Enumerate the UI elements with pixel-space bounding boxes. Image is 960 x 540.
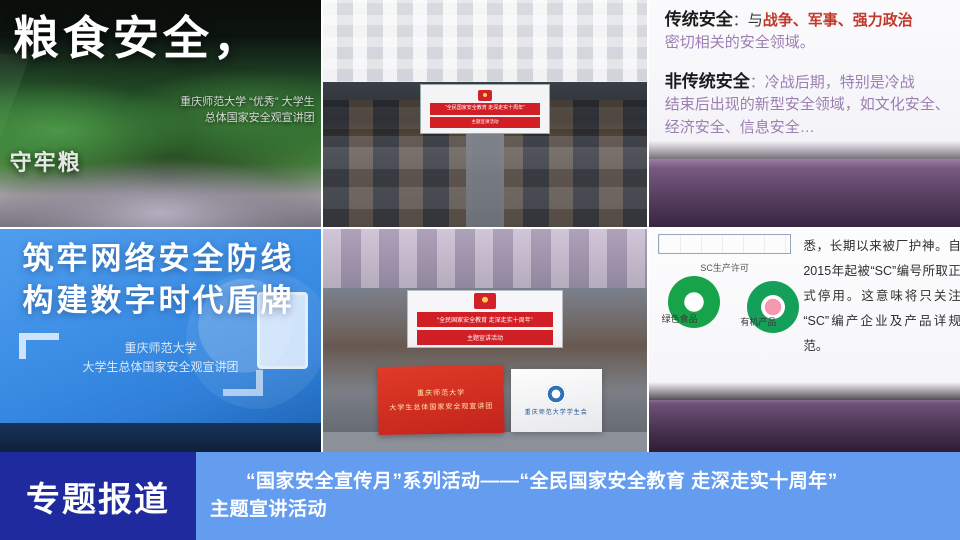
banner-title-line2: 主题宣讲活动 xyxy=(210,496,952,524)
slide-table-graphic xyxy=(658,234,790,254)
slide-title-line2: 构建数字时代盾牌 xyxy=(22,280,298,322)
photo-group: “全民国家安全教育 走深走实十周年” 主题宣讲活动 重庆师范大学 大学生总体国家… xyxy=(323,229,647,454)
sc-permit-label: SC生产许可 xyxy=(674,261,775,274)
screen-title-line1: “全民国家安全教育 走深走实十周年” xyxy=(430,103,540,115)
panel-cyber-security-slide[interactable]: 筑牢网络安全防线 构建数字时代盾牌 重庆师范大学 大学生总体国家安全观宣讲团 xyxy=(0,229,321,454)
terrace-field-shape xyxy=(0,54,321,227)
hall-floor xyxy=(323,432,647,455)
slide-line-5: 经济安全、信息安全… xyxy=(665,117,955,140)
slide-emphasis-1: 战争、军事、强力政治 xyxy=(763,12,913,29)
green-food-caption: 绿色食品 xyxy=(662,312,698,325)
term-nontraditional-security: 非传统安全 xyxy=(665,72,750,91)
national-emblem-icon xyxy=(474,293,496,309)
screen-title-line1: “全民国家安全教育 走深走实十周年” xyxy=(417,312,552,327)
slide-sep-2: ： xyxy=(750,74,765,91)
ceiling-lights xyxy=(323,229,647,288)
stage-light-glow xyxy=(649,159,960,227)
red-banner-line2: 大学生总体国家安全观宣讲团 xyxy=(389,401,493,413)
slide-spacer xyxy=(665,55,955,69)
red-banner-line1: 重庆师范大学 xyxy=(417,388,465,399)
slide-organization: 重庆师范大学 大学生总体国家安全观宣讲团 xyxy=(71,339,251,377)
slide-subline: 守牢粮 xyxy=(10,145,82,177)
stage-desk xyxy=(0,423,321,455)
poster-root: 粮食安全， 重庆师范大学 “优秀” 大学生总体国家安全观宣讲团 守牢粮 “全民国… xyxy=(0,0,960,540)
slide-sep-1: ：与 xyxy=(733,12,763,29)
red-banner: 重庆师范大学 大学生总体国家安全观宣讲团 xyxy=(377,365,505,435)
photo-lecture-hall: “全民国家安全教育 走深走实十周年” 主题宣讲活动 xyxy=(323,0,647,227)
ceiling-lights xyxy=(323,0,647,91)
panel-food-safety-sc-slide[interactable]: SC生产许可 绿色食品 有机产品 悉，长期以来被厂护神。自2015年起被“SC”… xyxy=(649,229,960,454)
organic-product-caption: 有机产品 xyxy=(740,315,776,328)
panel-traditional-security-slide[interactable]: 传统安全：与战争、军事、强力政治 密切相关的安全领域。 非传统安全：冷战后期，特… xyxy=(649,0,960,227)
slide-line-2: 密切相关的安全领域。 xyxy=(665,32,955,55)
slide-credit: 重庆师范大学 “优秀” 大学生总体国家安全观宣讲团 xyxy=(180,95,315,127)
feature-report-badge: 专题报道 xyxy=(0,452,196,540)
photo-cyber-slide: 筑牢网络安全防线 构建数字时代盾牌 重庆师范大学 大学生总体国家安全观宣讲团 xyxy=(0,229,321,454)
slide-title-line1: 筑牢网络安全防线 xyxy=(22,238,298,280)
bottom-banner: 专题报道 “国家安全宣传月”系列活动——“全民国家安全教育 走深走实十周年” 主… xyxy=(0,452,960,540)
slide-paragraph: 悉，长期以来被厂护神。自2015年起被“SC”编号所取正式停用。这意味将只关注“… xyxy=(803,234,960,359)
panel-food-security-speaker[interactable]: 粮食安全， 重庆师范大学 “优秀” 大学生总体国家安全观宣讲团 守牢粮 xyxy=(0,0,321,227)
panel-lecture-hall[interactable]: “全民国家安全教育 走深走实十周年” 主题宣讲活动 xyxy=(323,0,647,227)
photo-security-concept-slide: 传统安全：与战争、军事、强力政治 密切相关的安全领域。 非传统安全：冷战后期，特… xyxy=(649,0,960,227)
slide-text-3: 冷战后期，特别是冷战 xyxy=(765,74,915,91)
slide-org-line2: 大学生总体国家安全观宣讲团 xyxy=(71,358,251,377)
term-traditional-security: 传统安全 xyxy=(665,10,733,29)
white-banner-line1: 重庆师范大学学生会 xyxy=(525,407,588,416)
slide-line-1: 传统安全：与战争、军事、强力政治 xyxy=(665,7,955,33)
slide-line-3: 非传统安全：冷战后期，特别是冷战 xyxy=(665,69,955,95)
panel-group-photo[interactable]: “全民国家安全教育 走深走实十周年” 主题宣讲活动 重庆师范大学 大学生总体国家… xyxy=(323,229,647,454)
photo-backdrop-rice-terrace: 粮食安全， 重庆师范大学 “优秀” 大学生总体国家安全观宣讲团 守牢粮 xyxy=(0,0,321,227)
stage-light-glow xyxy=(649,400,960,454)
projection-screen: “全民国家安全教育 走深走实十周年” 主题宣讲活动 xyxy=(420,84,550,134)
screen-title-line2: 主题宣讲活动 xyxy=(430,117,540,128)
student-union-emblem-icon xyxy=(546,384,566,404)
slide-org-line1: 重庆师范大学 xyxy=(71,339,251,358)
slide-headline: 粮食安全， xyxy=(13,2,315,68)
slide-body: 传统安全：与战争、军事、强力政治 密切相关的安全领域。 非传统安全：冷战后期，特… xyxy=(665,7,955,140)
feature-report-label: 专题报道 xyxy=(26,472,170,521)
photo-collage: 粮食安全， 重庆师范大学 “优秀” 大学生总体国家安全观宣讲团 守牢粮 “全民国… xyxy=(0,0,960,452)
photo-food-safety-slide: SC生产许可 绿色食品 有机产品 悉，长期以来被厂护神。自2015年起被“SC”… xyxy=(649,229,960,454)
slide-line-4: 结束后出现的新型安全领域，如文化安全、 xyxy=(665,94,955,117)
banner-title-block: “国家安全宣传月”系列活动——“全民国家安全教育 走深走实十周年” 主题宣讲活动 xyxy=(196,452,960,540)
slide-title: 筑牢网络安全防线 构建数字时代盾牌 xyxy=(22,238,298,322)
banner-title-line1: “国家安全宣传月”系列活动——“全民国家安全教育 走深走实十周年” xyxy=(210,468,952,496)
national-emblem-icon xyxy=(478,90,492,101)
white-banner: 重庆师范大学学生会 xyxy=(511,369,602,432)
corner-bracket-icon xyxy=(19,333,59,359)
